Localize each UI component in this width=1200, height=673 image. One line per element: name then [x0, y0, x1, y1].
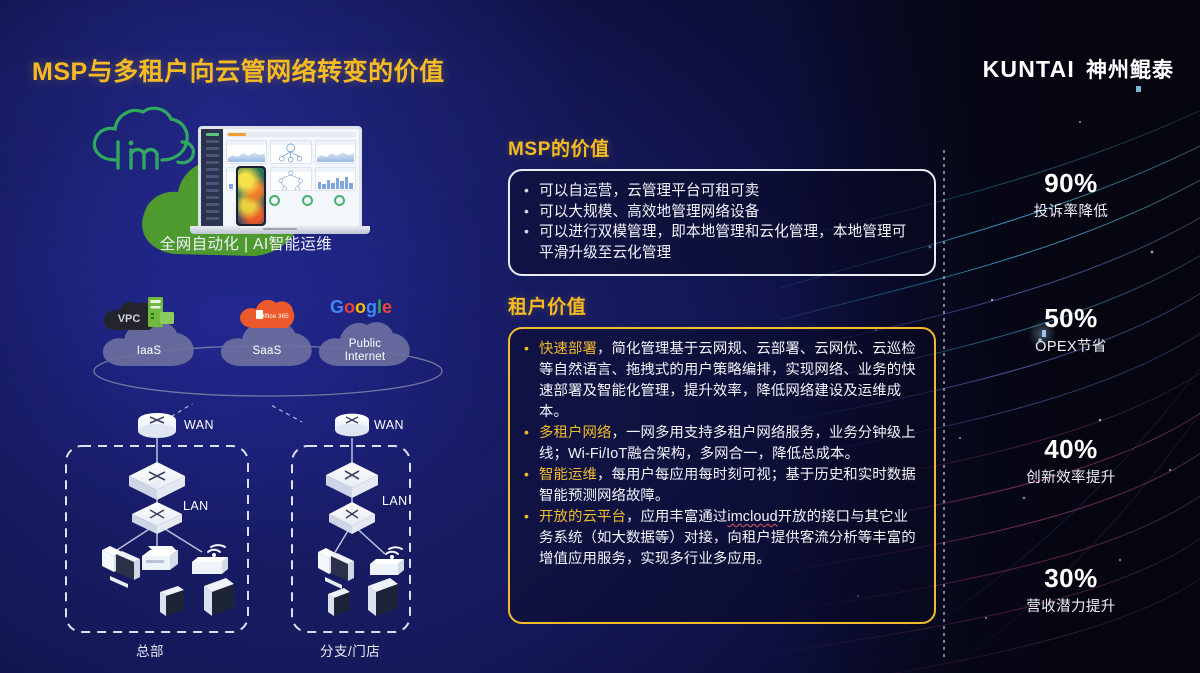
iaas-label: IaaS	[100, 345, 198, 358]
list-item: 多租户网络，一网多用支持多租户网络服务，业务分钟级上线；Wi-Fi/IoT融合架…	[522, 423, 920, 465]
branch-tablet-icon-1	[328, 588, 350, 616]
branch-wan-router-icon	[335, 414, 369, 437]
public-internet-label-line2: Internet	[345, 351, 386, 363]
msp-value-section: MSP的价值 可以自运营，云管理平台可租可卖 可以大规模、高效地管理网络设备 可…	[508, 134, 936, 276]
msp-section-title: MSP的价值	[508, 134, 936, 161]
stat-label: 营收潜力提升	[942, 595, 1200, 616]
list-item: 开放的云平台，应用丰富通过imcloud开放的接口与其它业务系统（如大数据等）对…	[522, 507, 920, 570]
phone-device	[234, 164, 268, 228]
saas-label: SaaS	[218, 345, 316, 358]
page-title: MSP与多租户向云管网络转变的价值	[32, 52, 445, 88]
hq-desktop-pc-icon	[102, 546, 140, 588]
list-item: 快速部署，简化管理基于云网规、云部署、云网优、云巡检等自然语言、拖拽式的用户策略…	[522, 339, 920, 423]
hq-core-switch-icon	[129, 462, 185, 500]
svg-text:e: e	[382, 297, 392, 317]
tenant-value-panel: 快速部署，简化管理基于云网规、云部署、云网优、云巡检等自然语言、拖拽式的用户策略…	[508, 327, 936, 624]
hq-wan-label: WAN	[184, 418, 214, 432]
site-label-branch: 分支/门店	[320, 640, 380, 660]
bullet-keyword: 开放的云平台	[539, 509, 626, 525]
branch-wan-label: WAN	[374, 418, 404, 432]
tenant-section-title: 租户价值	[508, 292, 936, 319]
logo-wordmark-en: KUNTAI	[983, 56, 1075, 83]
stat-label: OPEX节省	[942, 335, 1200, 356]
svg-text:G: G	[330, 297, 344, 317]
stat-item: 90% 投诉率降低	[942, 168, 1200, 221]
stat-item: 50% OPEX节省	[942, 303, 1200, 356]
hq-lan-label: LAN	[183, 499, 209, 513]
cloud-service-saas: Office 365 SaaS	[218, 312, 316, 368]
bullet-keyword: 智能运维	[539, 467, 597, 483]
logo-wordmark-cn: 神州鲲泰	[1086, 54, 1174, 84]
bullet-keyword: 快速部署	[539, 341, 597, 357]
msp-bullet-list: 可以自运营，云管理平台可租可卖 可以大规模、高效地管理网络设备 可以进行双模管理…	[522, 181, 920, 263]
branch-tablet-icon-2	[368, 578, 398, 616]
bullet-text-a: ，应用丰富通过	[626, 509, 727, 525]
hq-tablet-icon-2	[204, 578, 234, 616]
tenant-bullet-list: 快速部署，简化管理基于云网规、云部署、云网优、云巡检等自然语言、拖拽式的用户策略…	[522, 339, 920, 570]
list-item: 可以自运营，云管理平台可租可卖	[522, 181, 920, 202]
stat-item: 30% 营收潜力提升	[942, 563, 1200, 616]
imcloud-logo-icon	[86, 102, 198, 180]
brand-logo: KUNTAI 神州鲲泰	[983, 54, 1174, 84]
branch-lan-label: LAN	[382, 494, 408, 508]
cloud-service-public-internet: G o o g l e Public Internet	[316, 312, 414, 368]
site-label-headquarters: 总部	[136, 640, 164, 660]
hq-lan-switch-icon	[132, 502, 182, 534]
office365-cloud-icon: Office 365	[238, 298, 296, 330]
list-item: 智能运维，每用户每应用每时刻可视；基于历史和实时数据智能预测网络故障。	[522, 465, 920, 507]
svg-text:o: o	[355, 297, 366, 317]
public-internet-label: Public Internet	[316, 338, 414, 364]
stat-label: 投诉率降低	[942, 200, 1200, 221]
bullet-keyword: 多租户网络	[539, 425, 611, 441]
branch-core-switch-icon	[326, 462, 378, 498]
svg-text:Office 365: Office 365	[259, 313, 289, 320]
google-logo: G o o g l e	[330, 296, 400, 318]
hq-printer-icon	[142, 546, 178, 570]
svg-text:o: o	[344, 297, 355, 317]
topology-svg	[52, 404, 452, 664]
server-icon	[146, 296, 176, 330]
network-topology-diagram: WAN LAN WAN LAN 总部 分支/门店	[52, 404, 452, 664]
hq-wan-router-icon	[138, 413, 176, 438]
dashboard-sidebar	[201, 129, 223, 226]
branch-wireless-ap-icon	[370, 547, 404, 575]
bullet-underlined-term: imcloud	[727, 509, 777, 525]
wifi-heatmap-icon	[238, 168, 264, 224]
hero-caption: 全网自动化 | AI智能运维	[86, 232, 406, 254]
msp-value-panel: 可以自运营，云管理平台可租可卖 可以大规模、高效地管理网络设备 可以进行双模管理…	[508, 169, 936, 276]
cloud-service-iaas: VPC IaaS	[100, 312, 198, 368]
stat-item: 40% 创新效率提升	[942, 434, 1200, 487]
svg-text:g: g	[366, 297, 377, 317]
stat-value: 50%	[942, 303, 1200, 333]
laptop-screen	[198, 126, 362, 226]
slide-canvas: MSP与多租户向云管网络转变的价值 KUNTAI 神州鲲泰	[0, 0, 1200, 673]
cloud-services-tier: VPC IaaS Office 365 SaaS	[100, 300, 440, 410]
hq-tablet-icon-1	[160, 586, 184, 616]
stat-value: 90%	[942, 168, 1200, 198]
list-item: 可以进行双模管理，即本地管理和云化管理，本地管理可平滑升级至云化管理	[522, 222, 920, 263]
stat-label: 创新效率提升	[942, 466, 1200, 487]
branch-desktop-pc-icon	[318, 548, 354, 589]
stat-value: 30%	[942, 563, 1200, 593]
tenant-value-section: 租户价值 快速部署，简化管理基于云网规、云部署、云网优、云巡检等自然语言、拖拽式…	[508, 292, 936, 624]
laptop-device	[190, 126, 370, 244]
public-internet-label-line1: Public	[349, 338, 382, 350]
svg-text:VPC: VPC	[118, 313, 141, 325]
branch-lan-switch-icon	[329, 502, 375, 534]
stat-value: 40%	[942, 434, 1200, 464]
list-item: 可以大规模、高效地管理网络设备	[522, 202, 920, 223]
